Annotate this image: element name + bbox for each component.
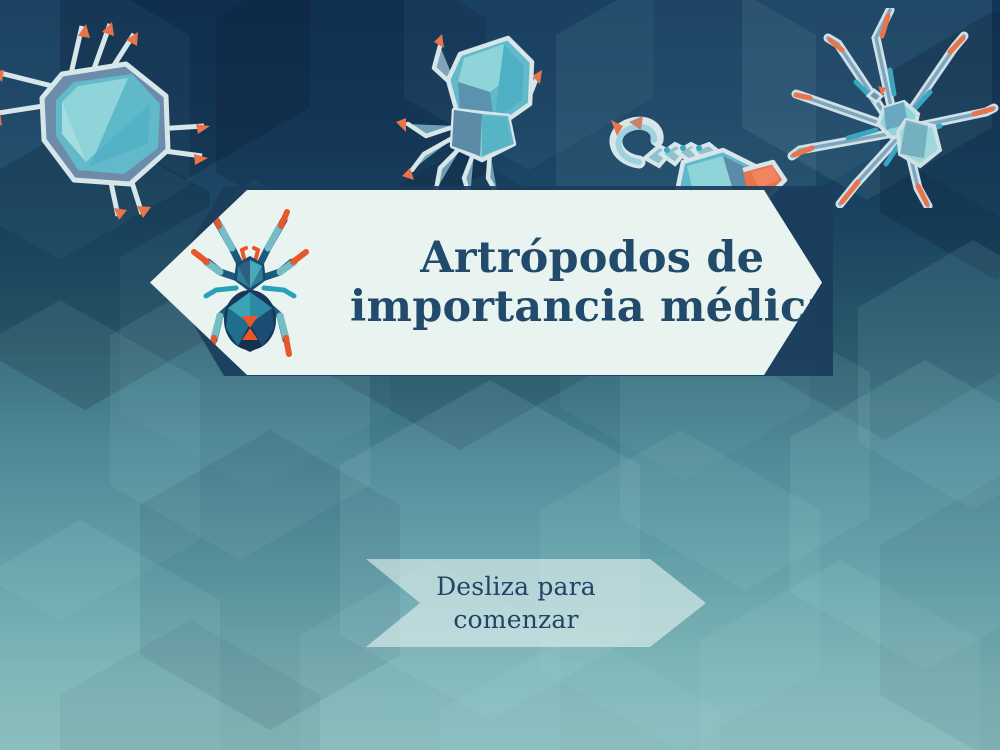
harvestman-spider-illustration	[778, 8, 1000, 208]
title-line-1: Artrópodos de	[350, 234, 834, 282]
title-line-2: importancia médica	[350, 283, 834, 331]
title-banner: Artrópodos de importancia médica	[150, 190, 822, 375]
cta-line-1: Desliza para	[436, 570, 636, 604]
slide-root: Artrópodos de importancia médica Desliza…	[0, 0, 1000, 750]
crab-illustration	[390, 18, 580, 203]
page-title: Artrópodos de importancia médica	[350, 234, 868, 330]
cta-line-2: comenzar	[453, 603, 618, 637]
tick-illustration	[0, 18, 215, 233]
